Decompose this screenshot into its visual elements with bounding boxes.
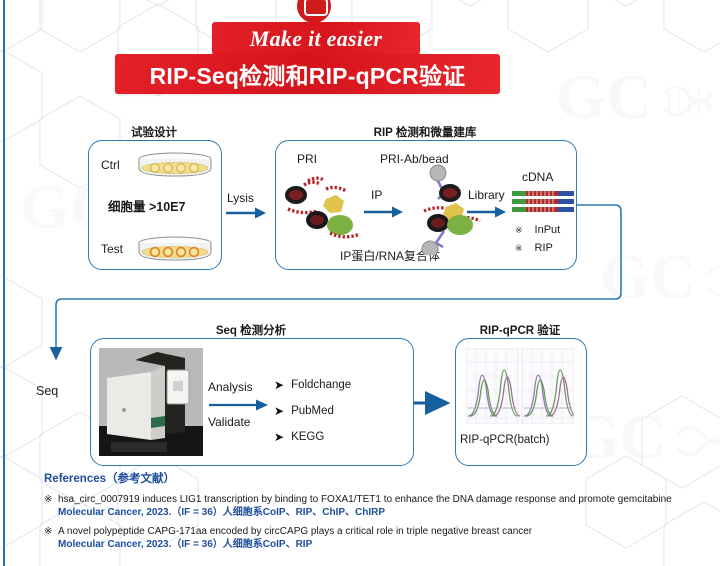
legend-rip-label: RIP: [535, 242, 553, 254]
analysis-validate-arrow-icon: [208, 398, 270, 412]
seq-output-label: KEGG: [291, 431, 324, 443]
reference-marker-icon: ※: [44, 493, 58, 520]
rip-panel-caption: RIP 检测和微量建库: [275, 124, 575, 140]
chevron-right-icon: ➤: [274, 405, 284, 417]
reference-journal-text: Molecular Cancer, 2023.（IF = 36）人细胞系CoIP…: [58, 538, 720, 552]
references-section: References（参考文献） ※ hsa_circ_0007919 indu…: [44, 470, 720, 557]
main-title-banner: RIP-Seq检测和RIP-qPCR验证: [115, 54, 500, 94]
test-label: Test: [101, 242, 123, 256]
ip-arrow-label: IP: [371, 188, 382, 202]
cdna-label: cDNA: [522, 170, 553, 184]
reference-journal-text: Molecular Cancer, 2023.（IF = 36）人细胞系CoIP…: [58, 506, 720, 520]
title-block: Make it easier RIP-Seq检测和RIP-qPCR验证: [0, 0, 720, 100]
cell-amount-label: 细胞量 >10E7: [108, 196, 185, 215]
legend-input-label: InPut: [535, 224, 561, 236]
watermark-gc-mid-right: GC: [600, 240, 720, 320]
chevron-right-icon: ➤: [274, 431, 284, 443]
references-title: References（参考文献）: [44, 470, 720, 486]
analysis-label: Analysis: [208, 380, 253, 394]
legend-marker-rip-icon: ※: [515, 243, 523, 254]
lysis-arrow-label: Lysis: [227, 191, 254, 205]
reference-item: ※ A novel polypeptide CAPG-171aa encoded…: [44, 525, 720, 552]
tagline-text: Make it easier: [250, 26, 383, 52]
petri-dish-test-icon: [135, 236, 215, 262]
seq-output-foldchange: ➤ Foldchange: [274, 379, 351, 391]
amplification-curves-icon: [466, 348, 574, 429]
ip-arrow-icon: [363, 205, 405, 219]
legend-marker-input-icon: ※: [515, 225, 523, 236]
reference-title-text: A novel polypeptide CAPG-171aa encoded b…: [58, 525, 720, 538]
qpcr-batch-label: RIP-qPCR(batch): [460, 434, 549, 446]
sequencer-instrument-icon: [99, 348, 203, 456]
seq-output-kegg: ➤ KEGG: [274, 431, 324, 443]
reference-marker-icon: ※: [44, 525, 58, 552]
library-arrow-icon: [466, 205, 508, 219]
pri-label: PRI: [297, 152, 317, 166]
library-arrow-label: Library: [468, 188, 505, 202]
lysis-arrow-icon: [224, 206, 268, 220]
petri-dish-ctrl-icon: [135, 152, 215, 178]
legend-input-row: ※ InPut: [515, 224, 560, 236]
seq-output-pubmed: ➤ PubMed: [274, 405, 334, 417]
chevron-right-icon: ➤: [274, 379, 284, 391]
seq-output-label: PubMed: [291, 405, 334, 417]
reference-item: ※ hsa_circ_0007919 induces LIG1 transcri…: [44, 493, 720, 520]
tagline-banner: Make it easier: [212, 22, 420, 55]
page-title: RIP-Seq检测和RIP-qPCR验证: [150, 57, 466, 91]
watermark-gc-bottom-right: GC: [570, 400, 720, 480]
qpcr-panel-caption: RIP-qPCR 验证: [455, 322, 585, 338]
seq-panel-caption: Seq 检测分析: [90, 322, 412, 338]
ctrl-label: Ctrl: [101, 158, 120, 172]
design-panel-caption: 试验设计: [88, 124, 220, 140]
seq-arrow-label: Seq: [36, 384, 58, 398]
seq-output-label: Foldchange: [291, 379, 351, 391]
pri-complex-icon: [282, 175, 362, 250]
reference-title-text: hsa_circ_0007919 induces LIG1 transcript…: [58, 493, 720, 506]
cdna-library-bands-icon: [512, 190, 574, 221]
svg-text:GC: GC: [600, 241, 696, 312]
legend-rip-row: ※ RIP: [515, 242, 553, 254]
validate-label: Validate: [208, 415, 250, 429]
